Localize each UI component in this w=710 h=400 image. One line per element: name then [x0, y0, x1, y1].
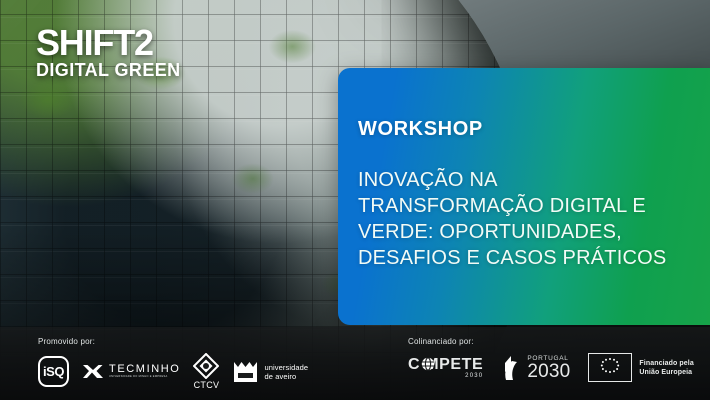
eu-logo-line2: União Europeia	[639, 368, 693, 377]
compete-logo-year: 2030	[465, 373, 483, 380]
title-line: TRANSFORMAÇÃO DIGITAL E	[358, 193, 710, 219]
shift2-logo: SHIFT2 DIGITAL GREEN	[36, 26, 181, 80]
sponsors-footer: Promovido por: iSQ TECMINHO UNIVERSIDADE…	[0, 327, 710, 400]
isq-logo: iSQ	[38, 356, 69, 387]
title-line: INOVAÇÃO NA	[358, 167, 710, 193]
logo-tagline: DIGITAL GREEN	[36, 60, 181, 80]
european-union-logo: Financiado pela União Europeia	[588, 353, 693, 382]
aveiro-logo-line1: universidade	[264, 363, 308, 372]
tecminho-logo: TECMINHO UNIVERSIDADE DO MINHO E EMPRESA	[82, 363, 180, 380]
event-type-label: WORKSHOP	[358, 118, 710, 141]
promoters-logo-row: iSQ TECMINHO UNIVERSIDADE DO MINHO E EMP…	[38, 353, 308, 390]
promoters-section: Promovido por: iSQ TECMINHO UNIVERSIDADE…	[38, 337, 308, 390]
ctcv-mark-icon	[193, 353, 219, 379]
ctcv-logo-text: CTCV	[194, 380, 220, 390]
promoters-label: Promovido por:	[38, 337, 308, 346]
tecminho-mark-icon	[82, 363, 104, 380]
universidade-aveiro-logo: universidade de aveiro	[232, 359, 308, 385]
compete-2030-logo: C MPETE 2030	[408, 356, 483, 380]
cofinanciers-logo-row: C MPETE 2030 PORTU	[408, 353, 694, 382]
portugal-leaf-icon	[501, 355, 523, 381]
title-panel: WORKSHOP INOVAÇÃO NA TRANSFORMAÇÃO DIGIT…	[338, 68, 710, 325]
cofinanciers-section: Colinanciado por: C MPETE 2030	[408, 337, 694, 382]
logo-wordmark: SHIFT2	[36, 26, 181, 60]
eu-logo-line1: Financiado pela	[639, 359, 693, 368]
eu-stars-icon	[589, 354, 631, 381]
promotional-banner: SHIFT2 DIGITAL GREEN WORKSHOP INOVAÇÃO N…	[0, 0, 710, 400]
title-line: DESAFIOS E CASOS PRÁTICOS	[358, 245, 710, 271]
cofinanciers-label: Colinanciado por:	[408, 337, 694, 346]
event-title: INOVAÇÃO NA TRANSFORMAÇÃO DIGITAL E VERD…	[358, 167, 710, 271]
compete-logo-text: C MPETE	[408, 356, 483, 373]
compete-globe-icon	[421, 357, 435, 371]
isq-logo-text: iSQ	[43, 364, 64, 379]
tecminho-logo-subtext: UNIVERSIDADE DO MINHO E EMPRESA	[109, 375, 180, 379]
tecminho-logo-text: TECMINHO	[109, 364, 180, 375]
eu-flag-box	[588, 353, 632, 382]
aveiro-logo-line2: de aveiro	[264, 372, 308, 381]
ctcv-logo: CTCV	[193, 353, 219, 390]
portugal-logo-year: 2030	[527, 362, 570, 381]
aveiro-crown-icon	[232, 359, 259, 385]
title-line: VERDE: OPORTUNIDADES,	[358, 219, 710, 245]
portugal-2030-logo: PORTUGAL 2030	[501, 355, 570, 381]
